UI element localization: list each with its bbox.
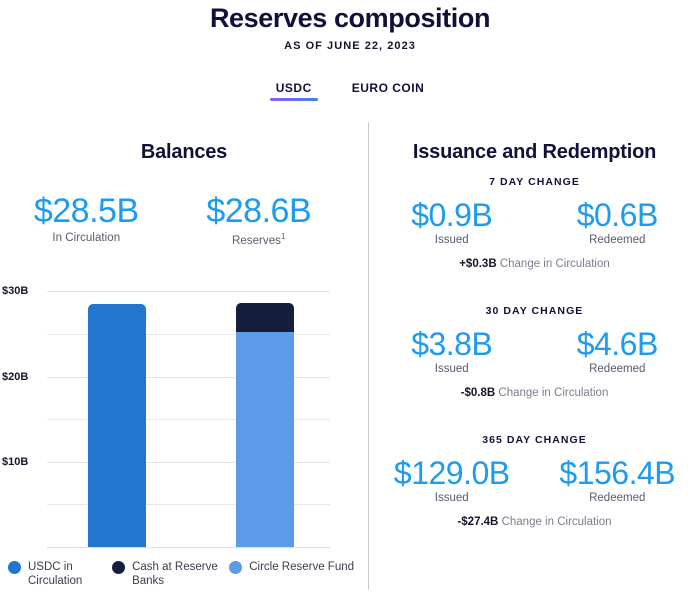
legend-item-0[interactable]: USDC in Circulation (8, 560, 112, 588)
legend-dot-icon (112, 561, 125, 574)
in-circulation-value: $28.5B (0, 192, 173, 230)
redeemed-stat: $0.6BRedeemed (535, 197, 700, 246)
issued-stat: $0.9BIssued (369, 197, 535, 246)
redeemed-label: Redeemed (535, 492, 700, 504)
issued-value: $0.9B (369, 197, 535, 233)
balances-stats-row: $28.5B In Circulation $28.6B Reserves1 (0, 192, 345, 247)
redeemed-label: Redeemed (535, 363, 700, 375)
bar-segment-circle-reserve-fund (236, 332, 294, 547)
y-axis-tick-$10B: $10B (2, 456, 28, 468)
redeemed-value: $0.6B (535, 197, 700, 233)
issuance-heading: Issuance and Redemption (369, 141, 700, 164)
bar-0[interactable] (88, 304, 146, 547)
issued-value: $3.8B (369, 326, 535, 362)
issued-value: $129.0B (369, 455, 535, 491)
legend-item-1[interactable]: Cash at Reserve Banks (112, 560, 229, 588)
period-label: 30 DAY CHANGE (369, 305, 700, 317)
period-1: 30 DAY CHANGE$3.8BIssued$4.6BRedeemed-$0… (369, 305, 700, 399)
period-label: 365 DAY CHANGE (369, 434, 700, 446)
legend-item-2[interactable]: Circle Reserve Fund (229, 560, 368, 588)
reserves-composition-page: Reserves composition AS OF JUNE 22, 2023… (0, 0, 700, 597)
legend-dot-icon (229, 561, 242, 574)
balance-stat-reserves: $28.6B Reserves1 (173, 192, 346, 247)
balances-panel: Balances $28.5B In Circulation $28.6B Re… (0, 0, 368, 597)
change-label: Change in Circulation (502, 516, 612, 528)
change-in-circulation: +$0.3B Change in Circulation (369, 258, 700, 270)
redeemed-stat: $4.6BRedeemed (535, 326, 700, 375)
chart-legend: USDC in CirculationCash at Reserve Banks… (8, 560, 368, 588)
in-circulation-label: In Circulation (0, 232, 173, 244)
legend-label: Cash at Reserve Banks (132, 560, 229, 588)
period-stats-row: $0.9BIssued$0.6BRedeemed (369, 197, 700, 246)
change-value: -$27.4B (457, 516, 498, 528)
redeemed-stat: $156.4BRedeemed (535, 455, 700, 504)
period-0: 7 DAY CHANGE$0.9BIssued$0.6BRedeemed+$0.… (369, 176, 700, 270)
issued-label: Issued (369, 363, 535, 375)
gridline-30 (47, 291, 330, 292)
issuance-panel: Issuance and Redemption 7 DAY CHANGE$0.9… (369, 0, 700, 597)
bar-1[interactable] (236, 303, 294, 547)
reserves-label: Reserves1 (173, 232, 346, 247)
legend-label: Circle Reserve Fund (249, 560, 354, 574)
change-label: Change in Circulation (500, 258, 610, 270)
period-label: 7 DAY CHANGE (369, 176, 700, 188)
balances-heading: Balances (0, 141, 368, 164)
redeemed-value: $156.4B (535, 455, 700, 491)
balance-stat-in-circulation: $28.5B In Circulation (0, 192, 173, 247)
reserves-value: $28.6B (173, 192, 346, 230)
legend-label: USDC in Circulation (28, 560, 112, 588)
issued-label: Issued (369, 234, 535, 246)
change-label: Change in Circulation (498, 387, 608, 399)
change-in-circulation: -$0.8B Change in Circulation (369, 387, 700, 399)
y-axis-tick-$30B: $30B (2, 285, 28, 297)
issued-stat: $3.8BIssued (369, 326, 535, 375)
change-value: -$0.8B (461, 387, 496, 399)
period-2: 365 DAY CHANGE$129.0BIssued$156.4BRedeem… (369, 434, 700, 528)
bar-segment-cash-at-reserve-banks (236, 303, 294, 332)
period-stats-row: $129.0BIssued$156.4BRedeemed (369, 455, 700, 504)
change-in-circulation: -$27.4B Change in Circulation (369, 516, 700, 528)
issued-label: Issued (369, 492, 535, 504)
balances-bar-chart: $10B$20B$30B (0, 270, 368, 560)
period-stats-row: $3.8BIssued$4.6BRedeemed (369, 326, 700, 375)
redeemed-label: Redeemed (535, 234, 700, 246)
bar-segment-usdc-in-circulation (88, 304, 146, 547)
issued-stat: $129.0BIssued (369, 455, 535, 504)
chart-baseline (47, 547, 330, 548)
reserves-footnote-marker: 1 (281, 232, 286, 241)
legend-dot-icon (8, 561, 21, 574)
redeemed-value: $4.6B (535, 326, 700, 362)
change-value: +$0.3B (459, 258, 496, 270)
y-axis-tick-$20B: $20B (2, 371, 28, 383)
